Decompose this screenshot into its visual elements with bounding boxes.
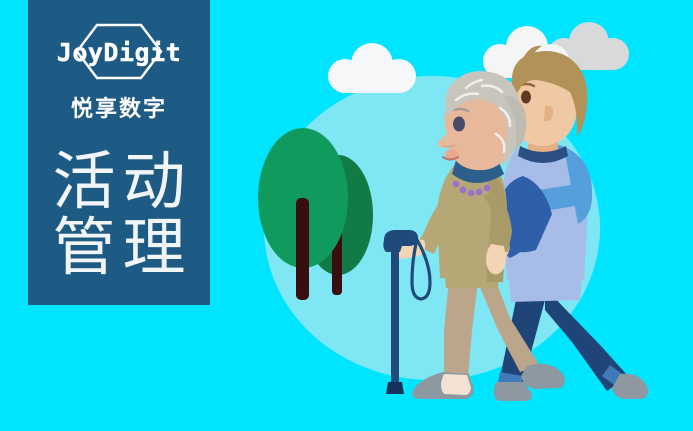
woman-front-shoe-highlight (441, 374, 471, 395)
woman-eye (453, 117, 465, 132)
young-man-eye (521, 91, 531, 104)
brand-panel: JoyDigit 悦享数字 活动 管理 (28, 0, 210, 305)
logo-wordmark: JoyDigit (57, 40, 181, 65)
page-title-line-2: 管理 (46, 215, 193, 281)
logo-chinese-name: 悦享数字 (71, 91, 167, 123)
page-title-line-1: 活动 (46, 149, 193, 215)
cane-shaft (391, 246, 399, 386)
page-title: 活动 管理 (46, 149, 193, 280)
brand-logo: JoyDigit (44, 22, 194, 82)
cane-tip (386, 382, 404, 394)
poster-canvas: JoyDigit 悦享数字 活动 管理 (0, 0, 693, 431)
